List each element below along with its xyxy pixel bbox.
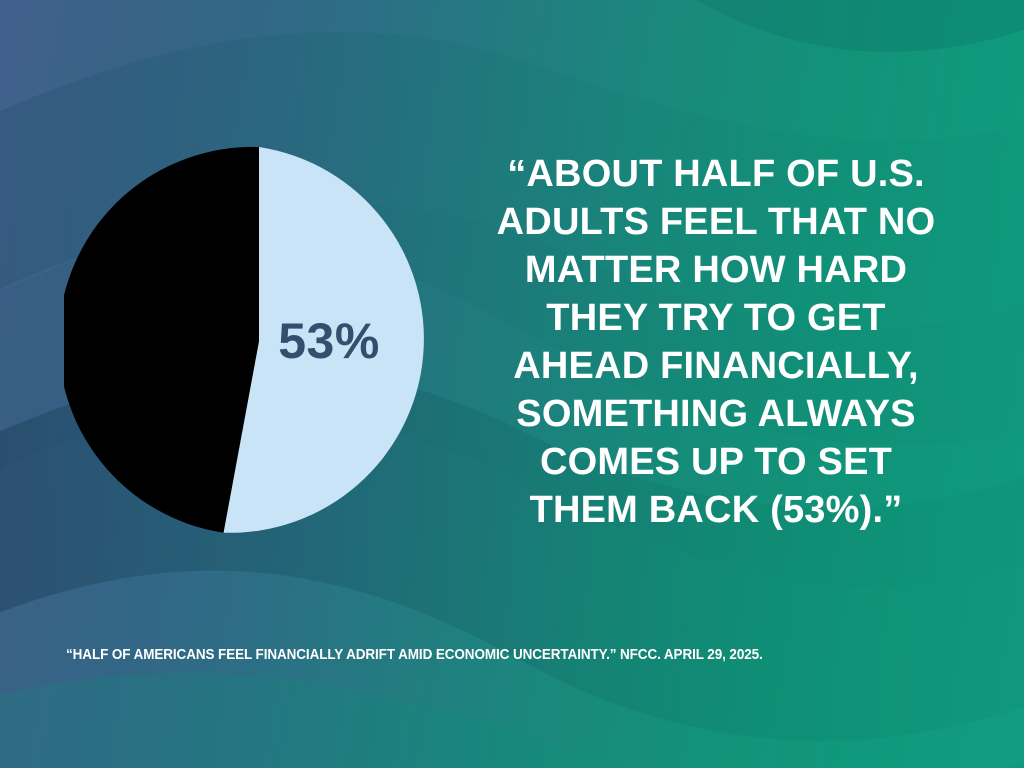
quote-line-2: ADULTS FEEL THAT NO [466,198,966,246]
quote-line-8: THEM BACK (53%).” [466,486,966,534]
quote-line-3: MATTER HOW HARD [466,246,966,294]
quote-line-1: “ABOUT HALF OF U.S. [466,150,966,198]
quote-line-7: COMES UP TO SET [466,438,966,486]
wave-band-top-right [640,0,1024,52]
source-citation: “HALF OF AMERICANS FEEL FINANCIALLY ADRI… [66,647,763,663]
pie-slice-remainder[interactable] [64,147,259,533]
quote-line-4: THEY TRY TO GET [466,294,966,342]
quote-text-block: “ABOUT HALF OF U.S. ADULTS FEEL THAT NO … [466,150,966,534]
quote-line-6: SOMETHING ALWAYS [466,390,966,438]
pie-chart: 53% [64,146,454,536]
quote-line-5: AHEAD FINANCIALLY, [466,342,966,390]
pie-chart-svg [64,146,454,536]
infographic-canvas: 53% “ABOUT HALF OF U.S. ADULTS FEEL THAT… [0,0,1024,768]
